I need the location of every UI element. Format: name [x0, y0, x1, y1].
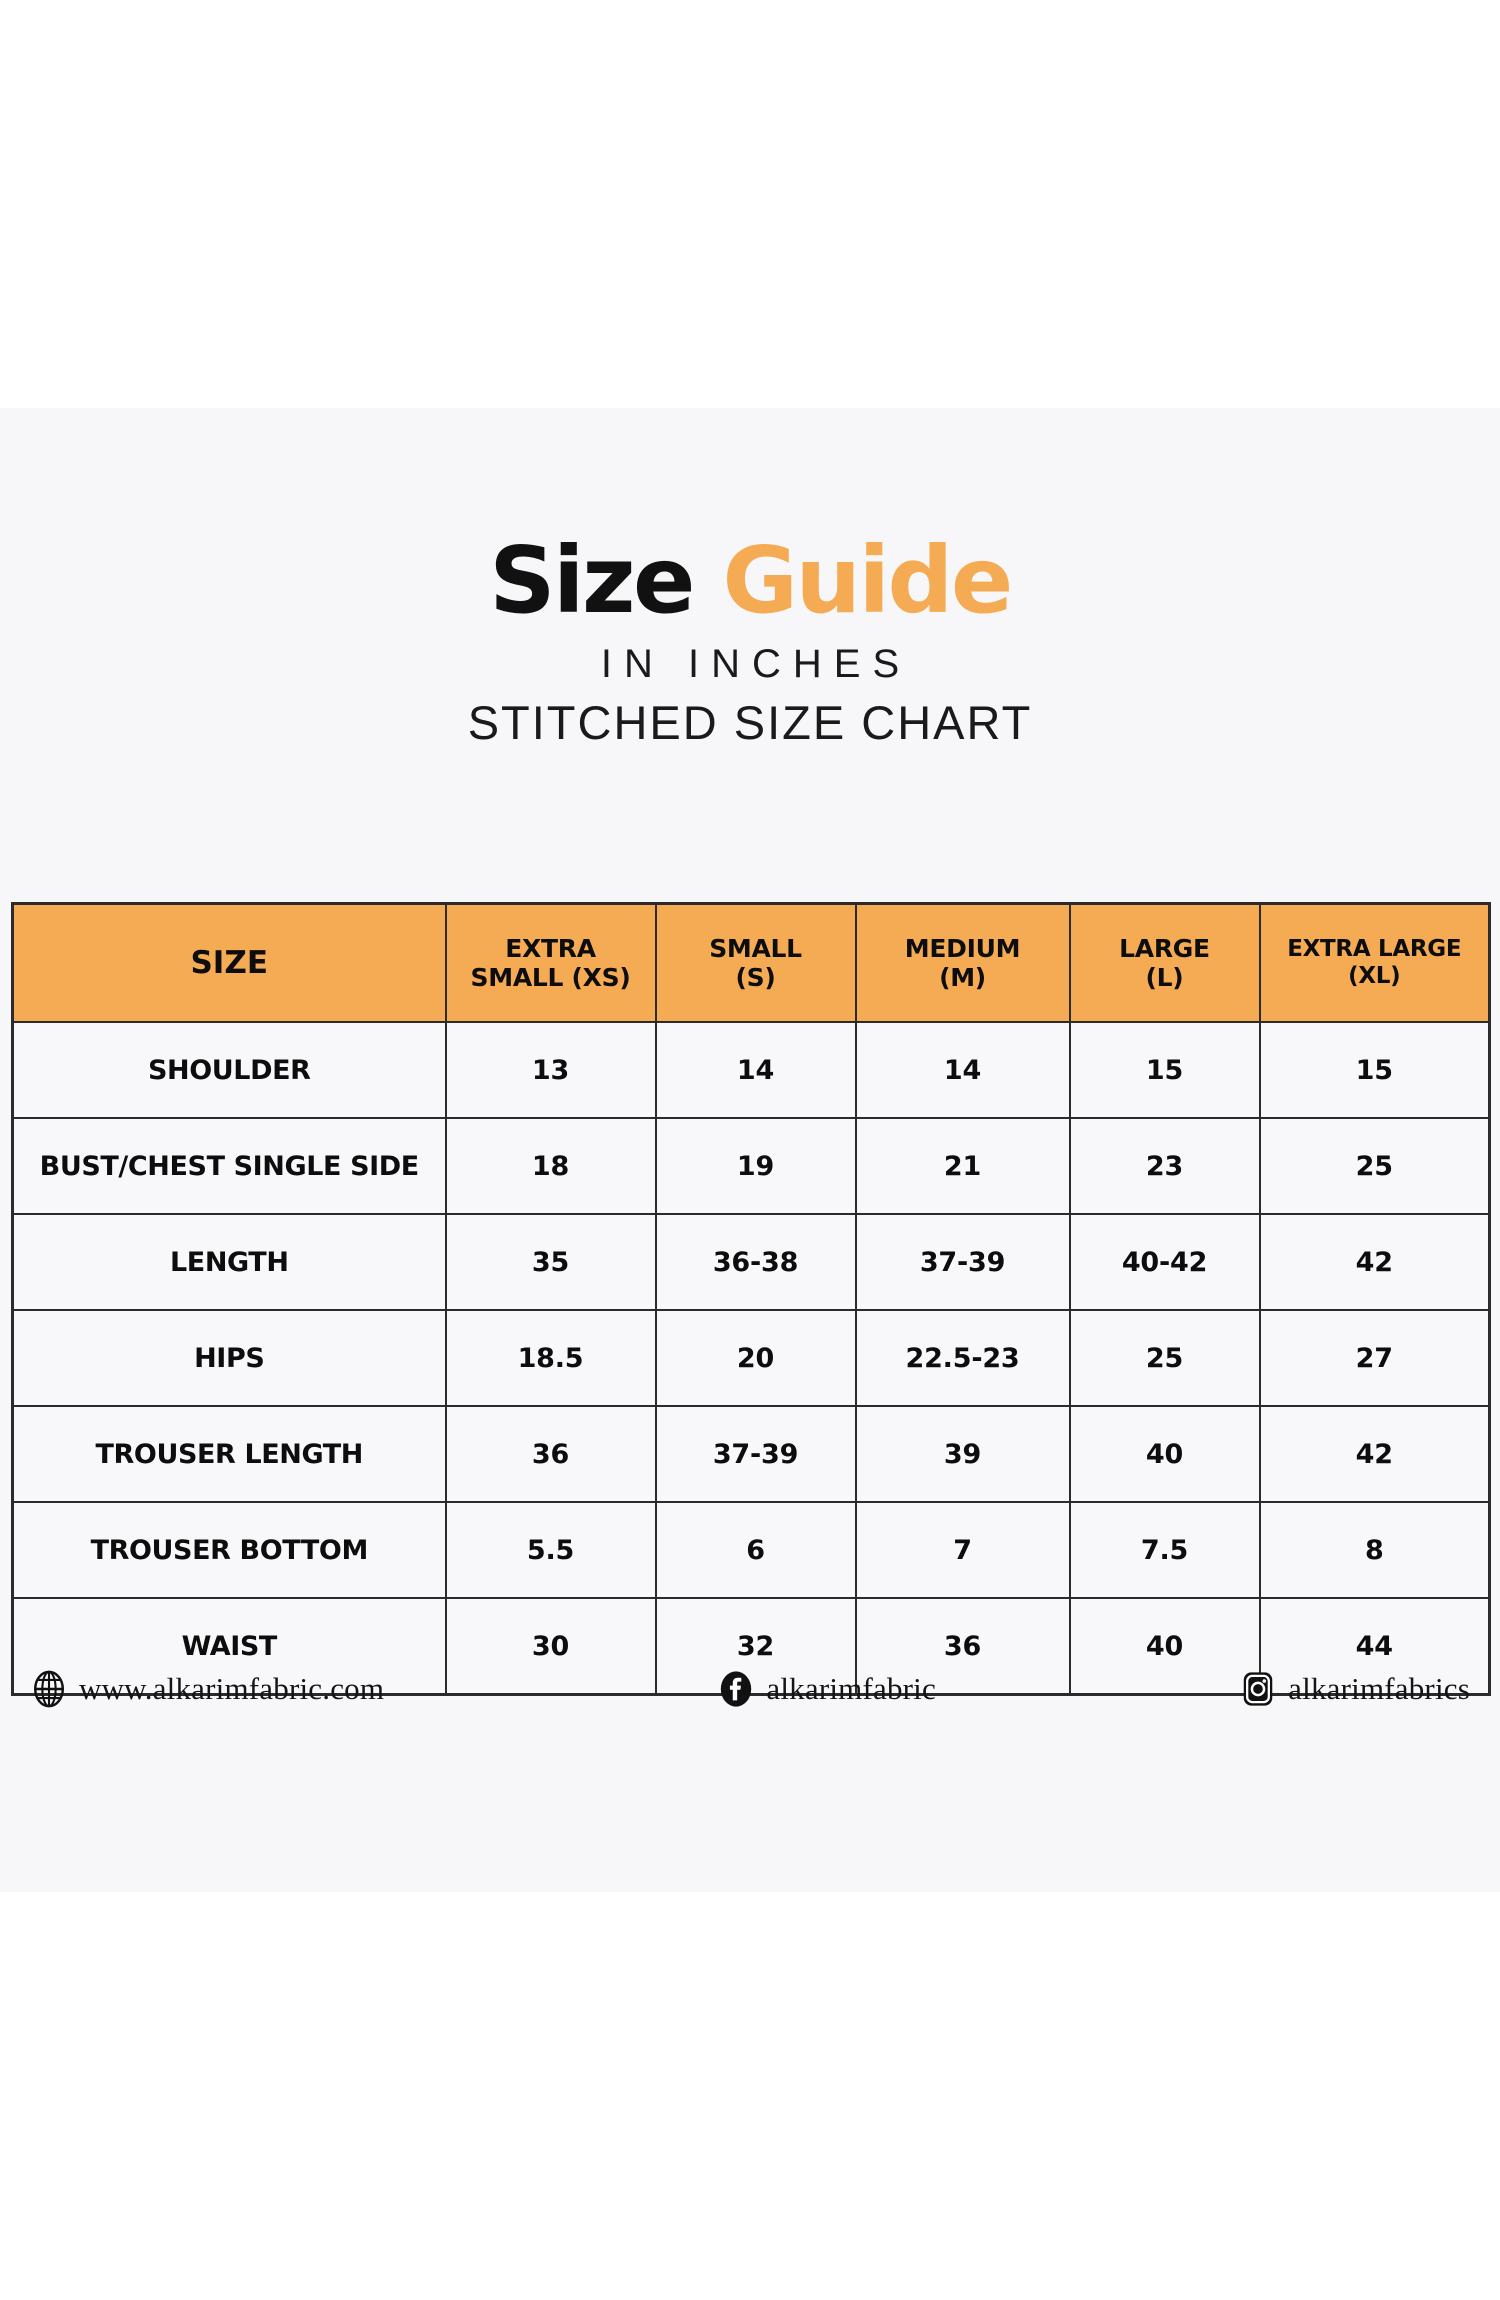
cell-shoulder-m: 14	[856, 1022, 1070, 1118]
cell-hips-xl: 27	[1260, 1310, 1490, 1406]
cell-length-l: 40-42	[1070, 1214, 1260, 1310]
subtitle-chart: STITCHED SIZE CHART	[0, 695, 1500, 750]
row-label-trouser-bottom: TROUSER BOTTOM	[13, 1502, 446, 1598]
page-title-dark: Size	[489, 527, 693, 634]
subtitle-units: IN INCHES	[0, 642, 1500, 687]
size-chart-table: SIZE EXTRASMALL (XS) SMALL(S) MEDIUM(M) …	[11, 902, 1491, 1696]
footer-contact-bar: www.alkarimfabric.com alkarimfabric	[0, 1670, 1500, 1708]
table-row: SHOULDER 13 14 14 15 15	[13, 1022, 1490, 1118]
column-header-l: LARGE(L)	[1070, 904, 1260, 1023]
cell-trouser-bottom-m: 7	[856, 1502, 1070, 1598]
row-label-shoulder: SHOULDER	[13, 1022, 446, 1118]
cell-bust-l: 23	[1070, 1118, 1260, 1214]
cell-hips-l: 25	[1070, 1310, 1260, 1406]
table-row: TROUSER BOTTOM 5.5 6 7 7.5 8	[13, 1502, 1490, 1598]
column-header-m-line2: (M)	[863, 963, 1063, 993]
footer-website-label: www.alkarimfabric.com	[79, 1671, 384, 1707]
cell-trouser-bottom-l: 7.5	[1070, 1502, 1260, 1598]
column-header-xs: EXTRASMALL (XS)	[446, 904, 656, 1023]
cell-trouser-bottom-xl: 8	[1260, 1502, 1490, 1598]
column-header-l-line2: (L)	[1077, 963, 1253, 993]
column-header-xl: EXTRA LARGE(XL)	[1260, 904, 1490, 1023]
cell-bust-m: 21	[856, 1118, 1070, 1214]
cell-trouser-length-l: 40	[1070, 1406, 1260, 1502]
cell-trouser-length-xs: 36	[446, 1406, 656, 1502]
row-label-hips: HIPS	[13, 1310, 446, 1406]
table-row: BUST/CHEST SINGLE SIDE 18 19 21 23 25	[13, 1118, 1490, 1214]
size-guide-panel: Size Guide IN INCHES STITCHED SIZE CHART…	[0, 408, 1500, 1892]
cell-hips-xs: 18.5	[446, 1310, 656, 1406]
row-label-bust-chest: BUST/CHEST SINGLE SIDE	[13, 1118, 446, 1214]
instagram-icon	[1239, 1670, 1277, 1708]
cell-trouser-length-m: 39	[856, 1406, 1070, 1502]
column-header-m-line1: MEDIUM	[905, 934, 1020, 963]
table-row: SIZE EXTRASMALL (XS) SMALL(S) MEDIUM(M) …	[13, 904, 1490, 1023]
title-block: Size Guide IN INCHES STITCHED SIZE CHART	[0, 408, 1500, 750]
footer-website[interactable]: www.alkarimfabric.com	[30, 1670, 384, 1708]
column-header-s-line1: SMALL	[709, 934, 802, 963]
cell-trouser-bottom-s: 6	[656, 1502, 856, 1598]
page-title-accent: Guide	[722, 527, 1010, 634]
column-header-xs-line1: EXTRA	[505, 934, 596, 963]
footer-instagram[interactable]: alkarimfabrics	[1239, 1670, 1470, 1708]
page-title: Size Guide	[0, 536, 1500, 626]
footer-facebook-label: alkarimfabric	[766, 1671, 936, 1707]
column-header-size: SIZE	[13, 904, 446, 1023]
cell-length-xs: 35	[446, 1214, 656, 1310]
cell-shoulder-l: 15	[1070, 1022, 1260, 1118]
column-header-xl-line1: EXTRA LARGE	[1287, 936, 1461, 962]
column-header-xl-line2: (XL)	[1267, 963, 1483, 990]
column-header-l-line1: LARGE	[1119, 934, 1210, 963]
cell-hips-m: 22.5-23	[856, 1310, 1070, 1406]
cell-length-m: 37-39	[856, 1214, 1070, 1310]
column-header-xs-line2: SMALL (XS)	[453, 963, 649, 993]
cell-hips-s: 20	[656, 1310, 856, 1406]
footer-instagram-label: alkarimfabrics	[1288, 1671, 1470, 1707]
cell-bust-xs: 18	[446, 1118, 656, 1214]
cell-bust-xl: 25	[1260, 1118, 1490, 1214]
cell-shoulder-s: 14	[656, 1022, 856, 1118]
cell-trouser-bottom-xs: 5.5	[446, 1502, 656, 1598]
row-label-trouser-length: TROUSER LENGTH	[13, 1406, 446, 1502]
cell-trouser-length-s: 37-39	[656, 1406, 856, 1502]
table-row: LENGTH 35 36-38 37-39 40-42 42	[13, 1214, 1490, 1310]
cell-length-s: 36-38	[656, 1214, 856, 1310]
row-label-length: LENGTH	[13, 1214, 446, 1310]
footer-facebook[interactable]: alkarimfabric	[384, 1670, 1239, 1708]
facebook-icon	[717, 1670, 755, 1708]
cell-shoulder-xs: 13	[446, 1022, 656, 1118]
column-header-size-line1: SIZE	[190, 945, 268, 981]
table-header-row: SIZE EXTRASMALL (XS) SMALL(S) MEDIUM(M) …	[13, 904, 1490, 1023]
column-header-s: SMALL(S)	[656, 904, 856, 1023]
column-header-s-line2: (S)	[663, 963, 849, 993]
cell-length-xl: 42	[1260, 1214, 1490, 1310]
cell-shoulder-xl: 15	[1260, 1022, 1490, 1118]
table-row: HIPS 18.5 20 22.5-23 25 27	[13, 1310, 1490, 1406]
column-header-m: MEDIUM(M)	[856, 904, 1070, 1023]
cell-trouser-length-xl: 42	[1260, 1406, 1490, 1502]
globe-icon	[30, 1670, 68, 1708]
size-table-container: SIZE EXTRASMALL (XS) SMALL(S) MEDIUM(M) …	[11, 902, 1488, 1696]
cell-bust-s: 19	[656, 1118, 856, 1214]
table-row: TROUSER LENGTH 36 37-39 39 40 42	[13, 1406, 1490, 1502]
